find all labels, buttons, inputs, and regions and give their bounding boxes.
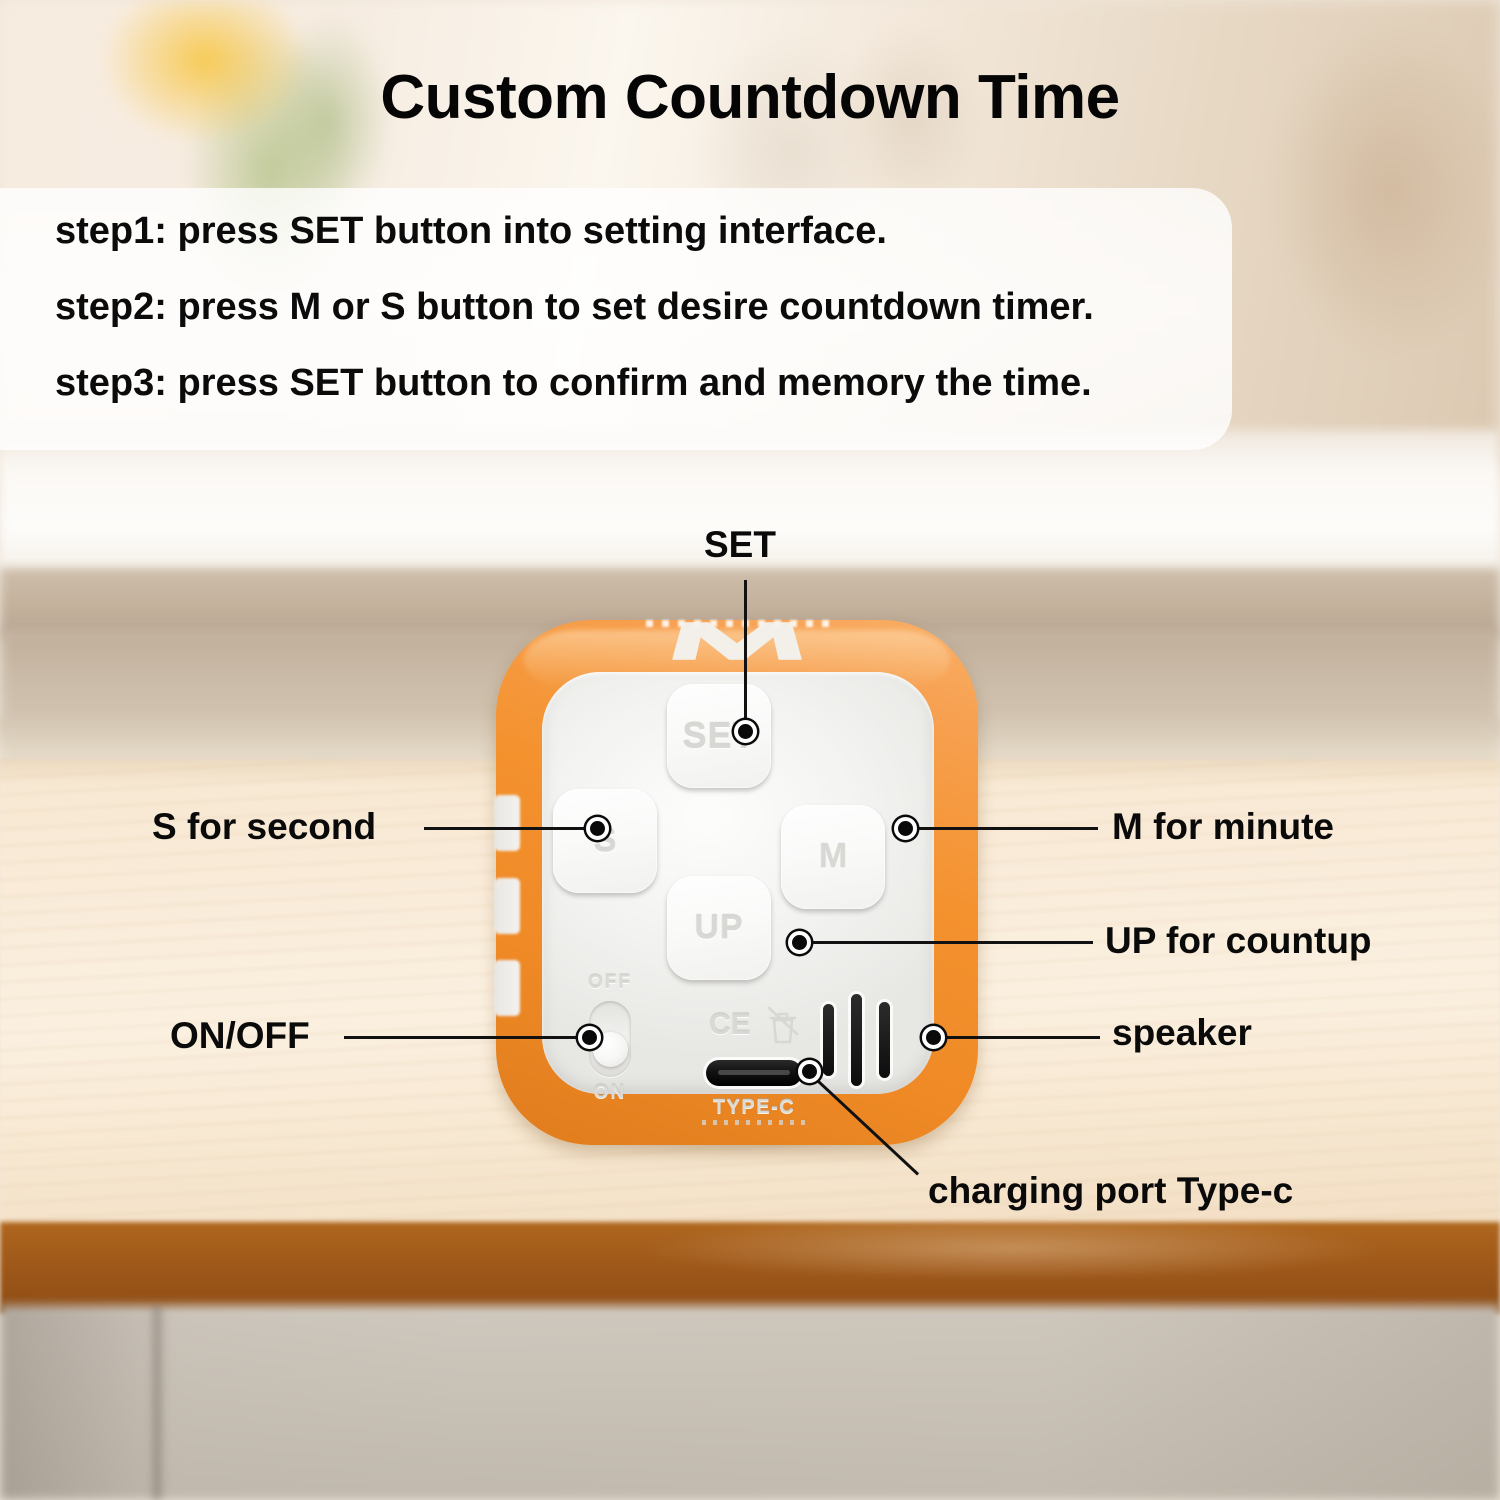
countup-button-label: UP	[667, 909, 771, 948]
minute-button-label: M	[781, 838, 885, 877]
callout-leader-speaker	[938, 1036, 1100, 1039]
speaker-slot	[851, 994, 862, 1086]
switch-on-label: ON	[570, 1082, 650, 1104]
callout-dot-second	[586, 817, 609, 840]
kitchen-timer-device: SET S M UP OFF ON CE TYPE-	[496, 620, 978, 1150]
instruction-step-2: step2: press M or S button to set desire…	[55, 288, 1235, 326]
bumper-side-slot	[494, 878, 520, 934]
countup-button[interactable]: UP	[667, 876, 771, 980]
callout-dot-countup	[788, 931, 811, 954]
infographic-canvas: Custom Countdown Time step1: press SET b…	[0, 0, 1500, 1500]
weee-bin-icon	[764, 1004, 802, 1048]
type-c-dot-strip	[702, 1120, 806, 1125]
wood-table-edge	[0, 1222, 1500, 1314]
callout-label-minute: M for minute	[1112, 806, 1334, 848]
bumper-side-slot	[494, 960, 520, 1016]
logo-dot-strip	[646, 620, 836, 627]
callout-label-countup: UP for countup	[1105, 920, 1372, 962]
instruction-step-3: step3: press SET button to confirm and m…	[55, 364, 1235, 402]
callout-leader-onoff	[344, 1036, 586, 1039]
callout-label-second: S for second	[152, 806, 376, 848]
callout-dot-minute	[894, 817, 917, 840]
type-c-port-label: TYPE-C	[686, 1096, 822, 1119]
callout-label-onoff: ON/OFF	[170, 1015, 310, 1057]
callout-label-set: SET	[704, 524, 776, 566]
minute-button[interactable]: M	[781, 805, 885, 909]
speaker-slot	[823, 1004, 834, 1076]
callout-leader-countup	[805, 941, 1093, 944]
table-leg	[150, 1305, 164, 1500]
callout-dot-speaker	[922, 1026, 945, 1049]
callout-dot-charging	[798, 1060, 821, 1083]
instructions-text: step1: press SET button into setting int…	[55, 212, 1235, 440]
second-button[interactable]: S	[553, 789, 657, 893]
bumper-side-slot	[494, 795, 520, 851]
callout-leader-minute	[902, 827, 1098, 830]
callout-dot-onoff	[578, 1026, 601, 1049]
callout-label-charging: charging port Type-c	[928, 1170, 1293, 1212]
speaker-slot	[879, 1002, 890, 1078]
background-countertop	[0, 430, 1500, 590]
under-table-shadow	[0, 1305, 1500, 1500]
callout-leader-second	[424, 827, 604, 830]
callout-leader-set	[744, 580, 747, 730]
usb-c-charging-port[interactable]	[706, 1060, 802, 1086]
callout-dot-set	[734, 720, 757, 743]
page-title: Custom Countdown Time	[0, 62, 1500, 133]
instruction-step-1: step1: press SET button into setting int…	[55, 212, 1235, 250]
ce-mark-icon: CE	[709, 1008, 751, 1042]
usb-c-inner-slot	[718, 1070, 790, 1075]
callout-label-speaker: speaker	[1112, 1012, 1252, 1054]
switch-off-label: OFF	[570, 972, 650, 994]
